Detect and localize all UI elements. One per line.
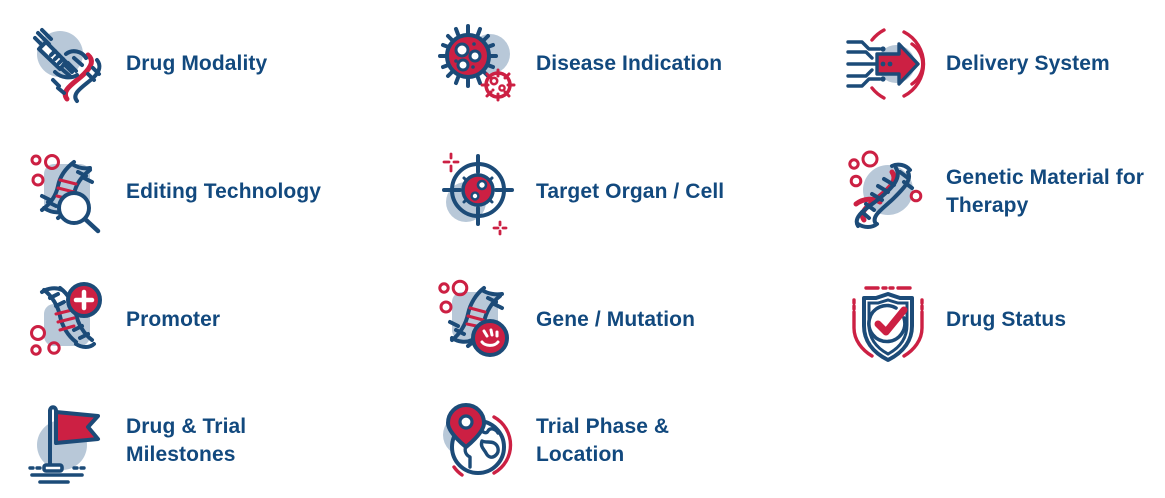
grid-item-label: Disease Indication [536,50,722,78]
grid-item-label: Drug Status [946,306,1066,334]
dna-mutation-badge-icon [432,274,524,366]
icon-label-grid: Drug Modality [0,0,1165,498]
arrow-circuit-icon [842,18,934,110]
grid-item-delivery-system[interactable]: Delivery System [820,0,1165,128]
grid-item-editing-technology[interactable]: Editing Technology [0,128,410,256]
grid-item-label: Delivery System [946,50,1110,78]
grid-item-label: Drug & Trial Milestones [126,413,341,468]
grid-item-label: Trial Phase & Location [536,413,751,468]
globe-pin-icon [432,395,524,487]
grid-item-disease-indication[interactable]: Disease Indication [410,0,820,128]
grid-item-trial-phase-location[interactable]: Trial Phase & Location [410,384,820,498]
grid-item-label: Gene / Mutation [536,306,695,334]
grid-item-genetic-material[interactable]: Genetic Material for Therapy [820,128,1165,256]
grid-item-label: Editing Technology [126,178,321,206]
grid-item-promoter[interactable]: Promoter [0,256,410,384]
grid-item-label: Drug Modality [126,50,267,78]
grid-item-drug-trial-milestones[interactable]: Drug & Trial Milestones [0,384,410,498]
grid-item-label: Target Organ / Cell [536,178,724,206]
grid-item-gene-mutation[interactable]: Gene / Mutation [410,256,820,384]
dna-magnifier-icon [22,146,114,238]
dna-strand-icon [842,146,934,238]
grid-item-drug-modality[interactable]: Drug Modality [0,0,410,128]
syringe-dna-icon [22,18,114,110]
grid-item-label: Promoter [126,306,220,334]
grid-item-empty [820,384,1165,498]
flag-milestone-icon [22,395,114,487]
dna-plus-badge-icon [22,274,114,366]
grid-item-drug-status[interactable]: Drug Status [820,256,1165,384]
grid-item-target-organ-cell[interactable]: Target Organ / Cell [410,128,820,256]
shield-check-icon [842,274,934,366]
crosshair-cell-icon [432,146,524,238]
grid-item-label: Genetic Material for Therapy [946,164,1165,219]
virus-pathogen-icon [432,18,524,110]
